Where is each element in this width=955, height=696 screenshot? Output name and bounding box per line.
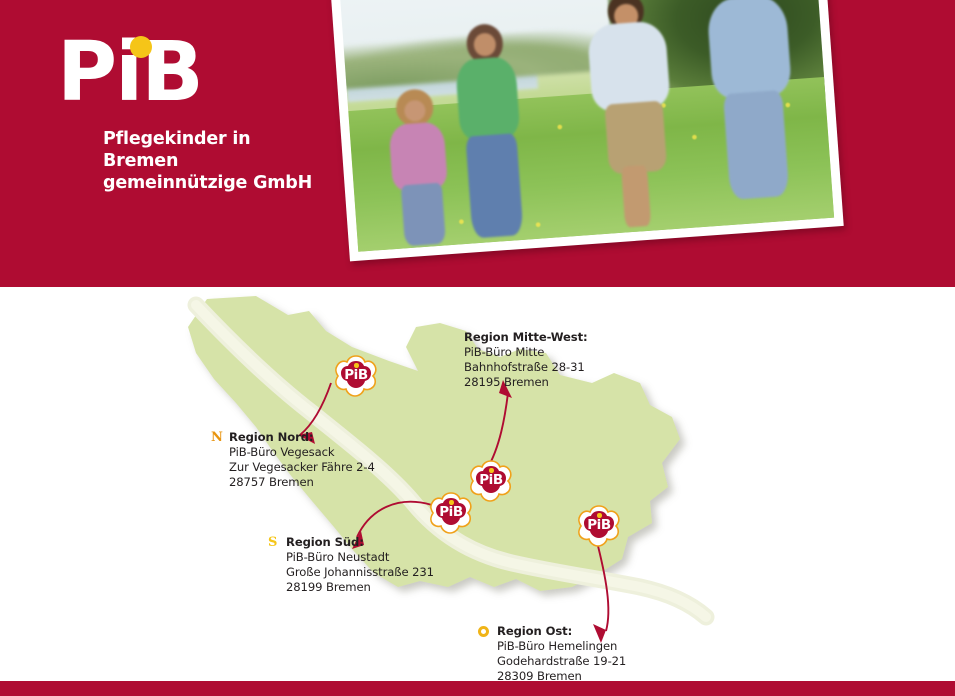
photo-figure-woman	[438, 21, 544, 239]
region-block-ost: Region Ost: PiB-Büro Hemelingen Godehard…	[497, 624, 626, 684]
logo-text: PiB	[57, 25, 202, 120]
region-line: 28195 Bremen	[464, 375, 588, 390]
region-line: PiB-Büro Hemelingen	[497, 639, 626, 654]
region-line: Godehardstraße 19-21	[497, 654, 626, 669]
bottom-accent-bar	[0, 681, 955, 696]
logo-wordmark: PiB	[57, 30, 317, 120]
region-line: PiB-Büro Neustadt	[286, 550, 434, 565]
pin-label: PiB	[429, 504, 473, 520]
photo-figures	[339, 0, 834, 252]
region-marker-s: S	[268, 535, 277, 550]
region-title: Region Süd:	[286, 535, 434, 550]
region-line: 28199 Bremen	[286, 580, 434, 595]
yellow-dot-icon	[130, 36, 152, 58]
pib-pin-sued[interactable]: PiB	[429, 492, 473, 534]
region-title: Region Ost:	[497, 624, 626, 639]
pin-label: PiB	[577, 517, 621, 533]
tagline-line-2: gemeinnützige GmbH	[103, 172, 317, 194]
region-block-mitte-west: Region Mitte-West: PiB-Büro Mitte Bahnho…	[464, 330, 588, 390]
header-photo-frame	[329, 0, 843, 261]
region-line: Bahnhofstraße 28-31	[464, 360, 588, 375]
pib-pin-nord[interactable]: PiB	[334, 355, 378, 397]
region-line: Große Johannisstraße 231	[286, 565, 434, 580]
pin-label: PiB	[469, 472, 513, 488]
header-band: PiB Pflegekinder in Bremen gemeinnützige…	[0, 0, 955, 287]
region-line: PiB-Büro Vegesack	[229, 445, 375, 460]
region-marker-n: N	[211, 430, 223, 445]
region-line: 28757 Bremen	[229, 475, 375, 490]
tagline-line-1: Pflegekinder in Bremen	[103, 128, 317, 172]
family-running-photo	[339, 0, 834, 252]
logo-tagline: Pflegekinder in Bremen gemeinnützige Gmb…	[57, 128, 317, 194]
pin-label: PiB	[334, 367, 378, 383]
photo-figure-man	[574, 0, 691, 230]
pib-pin-ost[interactable]: PiB	[577, 505, 621, 547]
region-line: PiB-Büro Mitte	[464, 345, 588, 360]
page-root: PiB Pflegekinder in Bremen gemeinnützige…	[0, 0, 955, 696]
region-marker-o-ring-icon	[478, 626, 489, 637]
region-title: Region Nord:	[229, 430, 375, 445]
region-block-sued: S Region Süd: PiB-Büro Neustadt Große Jo…	[286, 535, 434, 595]
pib-pin-mitte[interactable]: PiB	[469, 460, 513, 502]
region-line: Zur Vegesacker Fähre 2-4	[229, 460, 375, 475]
region-block-nord: N Region Nord: PiB-Büro Vegesack Zur Veg…	[229, 430, 375, 490]
photo-figure-boy	[702, 0, 825, 220]
pib-logo[interactable]: PiB Pflegekinder in Bremen gemeinnützige…	[57, 30, 317, 194]
region-title: Region Mitte-West:	[464, 330, 588, 345]
